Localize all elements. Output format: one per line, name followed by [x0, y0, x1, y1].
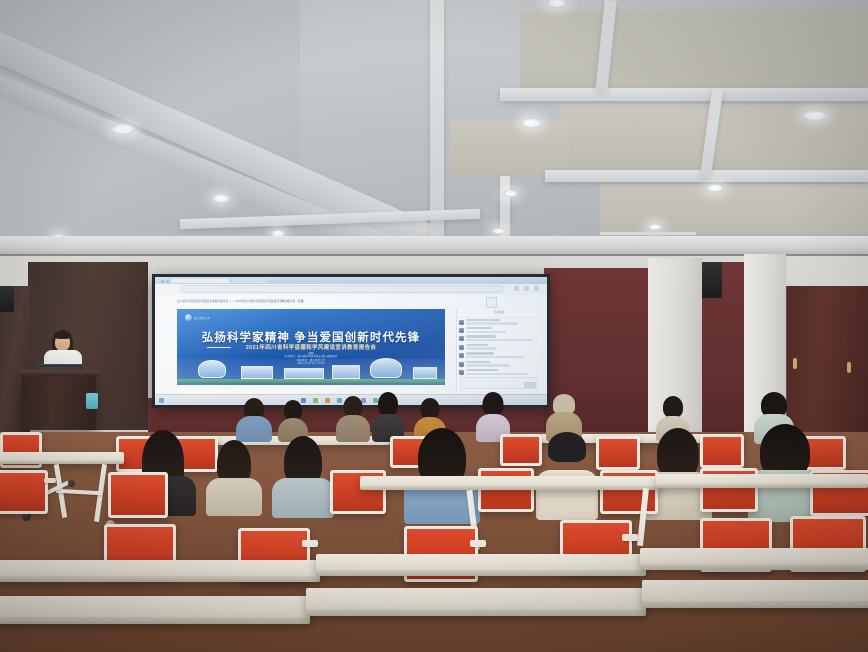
chat-sender-name	[466, 327, 492, 329]
chair[interactable]	[596, 436, 634, 464]
table-edge	[316, 570, 646, 576]
attendee	[236, 398, 272, 442]
ceiling-downlight	[492, 228, 506, 234]
chat-avatar-icon	[459, 362, 464, 367]
door-handle-icon	[847, 362, 851, 373]
chair-backrest	[596, 436, 640, 470]
lecture-hall-photo: 四川省科学道德和学风建设宣讲教育报告会 —— 2021年四川省科学道德和学风建设…	[0, 0, 868, 652]
chat-avatar-icon	[459, 353, 464, 358]
university-logo: 四川师范大学	[185, 314, 210, 321]
table-front	[316, 554, 646, 576]
chat-message-row	[457, 326, 541, 334]
chat-avatar-icon	[459, 370, 464, 375]
chair-armrest	[622, 534, 638, 541]
table-edge	[0, 576, 320, 582]
ceiling-downlight	[520, 118, 542, 128]
chat-sender-name	[466, 361, 490, 363]
ceiling-downlight	[648, 224, 662, 230]
chat-message-row	[457, 352, 541, 360]
campus-building	[413, 367, 437, 379]
chair[interactable]	[108, 472, 162, 512]
ceiling-downlight	[212, 194, 230, 203]
attendee-hair	[663, 396, 683, 418]
table-nearest	[642, 580, 868, 608]
chat-avatar-icon	[459, 320, 464, 325]
attendee-hat	[553, 394, 575, 414]
table-nearest	[306, 588, 646, 616]
ceiling-downlight	[546, 0, 568, 8]
attendee-torso	[272, 478, 334, 518]
table-nearest	[0, 596, 310, 624]
chat-message-row	[457, 368, 541, 376]
lectern	[22, 374, 96, 430]
chat-message-text	[466, 373, 528, 375]
table-edge	[0, 617, 310, 624]
campus-building	[284, 368, 324, 379]
chair-armrest	[302, 540, 318, 547]
browser-dot-icon	[161, 280, 164, 283]
chair-backrest	[108, 472, 168, 518]
browser-maximize-icon[interactable]	[524, 286, 529, 291]
table-caster	[68, 480, 75, 487]
campus-dome	[370, 358, 402, 378]
browser-tab-bar	[155, 277, 547, 284]
taskbar-app-icon[interactable]	[313, 398, 318, 403]
campus-building	[241, 366, 273, 379]
projected-image: 四川省科学道德和学风建设宣讲教育报告会 —— 2021年四川省科学道德和学风建设…	[155, 277, 547, 405]
teal-object	[86, 393, 98, 409]
table-edge	[640, 564, 868, 570]
table-edge	[306, 609, 646, 616]
chat-panel-header: 互动交流	[457, 309, 541, 318]
track-light-rail	[600, 232, 696, 235]
browser-tab[interactable]	[171, 279, 229, 283]
chat-avatar-icon	[459, 328, 464, 333]
table-edge	[656, 484, 868, 488]
attendee-hair	[483, 392, 504, 416]
chat-sender-name	[466, 319, 500, 321]
taskbar-app-icon[interactable]	[325, 398, 330, 403]
campus-lawn	[177, 379, 445, 383]
door-handle-icon	[793, 358, 797, 369]
page-fullscreen-button[interactable]	[486, 297, 497, 308]
chat-message-list[interactable]	[457, 318, 541, 377]
ceiling-left-plane	[0, 0, 300, 268]
speaker-fringe	[54, 331, 71, 339]
chat-message-row	[457, 360, 541, 368]
logo-text: 四川师范大学	[194, 316, 210, 320]
browser-close-icon[interactable]	[534, 286, 539, 291]
attendee	[336, 396, 370, 442]
wall-speaker-right	[700, 262, 722, 298]
table	[360, 476, 660, 490]
chair-backrest	[478, 468, 534, 512]
chair-armrest	[44, 478, 56, 483]
attendee	[272, 436, 334, 518]
chat-avatar-icon	[459, 336, 464, 341]
chair-armrest	[470, 540, 486, 547]
chat-message-row	[457, 343, 541, 351]
ceiling-downlight	[110, 123, 136, 135]
ceiling	[0, 0, 868, 268]
attendee-hair	[421, 398, 440, 419]
page-header-label: 四川省科学道德和学风建设宣讲教育报告会 —— 2021年四川省科学道德和学风建设…	[177, 299, 477, 304]
attendee	[372, 392, 404, 442]
chat-avatar-icon	[459, 345, 464, 350]
taskbar-start-icon[interactable]	[159, 398, 164, 403]
chat-message-text	[466, 339, 532, 341]
page-header-text: 四川省科学道德和学风建设宣讲教育报告会 —— 2021年四川省科学道德和学风建设…	[177, 299, 477, 304]
campus-building	[332, 365, 360, 379]
ceiling-coffer-panel	[520, 10, 868, 88]
chair-backrest	[0, 470, 48, 514]
ceiling-downlight	[802, 110, 828, 121]
chat-message-text	[466, 322, 518, 324]
table	[656, 474, 868, 488]
attendee-torso	[336, 415, 370, 442]
live-chat-panel: 互动交流	[456, 309, 541, 391]
slide-banner: 四川师范大学 弘扬科学家精神 争当爱国创新时代先锋 2021年四川省科学道德和学…	[177, 309, 445, 385]
chat-message-text	[466, 331, 506, 333]
attendee-torso	[206, 478, 262, 516]
chair[interactable]	[0, 470, 42, 508]
chat-message-text	[466, 356, 524, 358]
browser-dot-icon	[166, 280, 169, 283]
browser-minimize-icon[interactable]	[514, 286, 519, 291]
logo-mark-icon	[185, 314, 192, 321]
table-front	[0, 560, 320, 582]
chat-message-text	[466, 347, 496, 349]
campus-dome	[198, 360, 226, 378]
attendee-hair	[344, 396, 363, 417]
chat-header-label: 互动交流	[457, 309, 541, 317]
chat-message-row	[457, 318, 541, 326]
ceiling-cornice	[0, 236, 868, 256]
chat-send-button[interactable]	[524, 382, 536, 388]
attendee-hair	[284, 400, 302, 420]
chat-sender-name	[466, 369, 498, 371]
table-edge	[642, 601, 868, 608]
table-edge	[360, 486, 660, 490]
lectern-top	[19, 370, 99, 376]
browser-tab[interactable]	[233, 279, 267, 283]
chat-message-text	[466, 364, 510, 366]
table-front	[640, 548, 868, 570]
ceiling-beam	[430, 0, 444, 238]
attendee-hat	[548, 432, 586, 462]
chair[interactable]	[500, 434, 536, 460]
slide-subheadline: 2021年四川省科学道德和学风建设宣讲教育报告会	[177, 343, 445, 351]
ceiling-downlight	[706, 184, 724, 192]
ceiling-beam	[500, 88, 868, 101]
chat-sender-name	[466, 344, 488, 346]
attendee-hair	[378, 392, 398, 416]
chat-message-row	[457, 335, 541, 343]
ceiling-downlight	[503, 190, 518, 197]
chat-sender-name	[466, 335, 496, 337]
table	[0, 452, 124, 464]
attendee-torso	[236, 416, 272, 442]
browser-address-bar[interactable]	[181, 285, 503, 293]
wall-speaker-left	[0, 286, 14, 312]
chat-sender-name	[466, 352, 494, 354]
projection-screen: 四川省科学道德和学风建设宣讲教育报告会 —— 2021年四川省科学道德和学风建设…	[152, 274, 550, 408]
attendee	[206, 440, 262, 516]
web-page: 四川省科学道德和学风建设宣讲教育报告会 —— 2021年四川省科学道德和学风建设…	[155, 295, 547, 395]
ceiling-coffer-panel	[600, 184, 868, 234]
